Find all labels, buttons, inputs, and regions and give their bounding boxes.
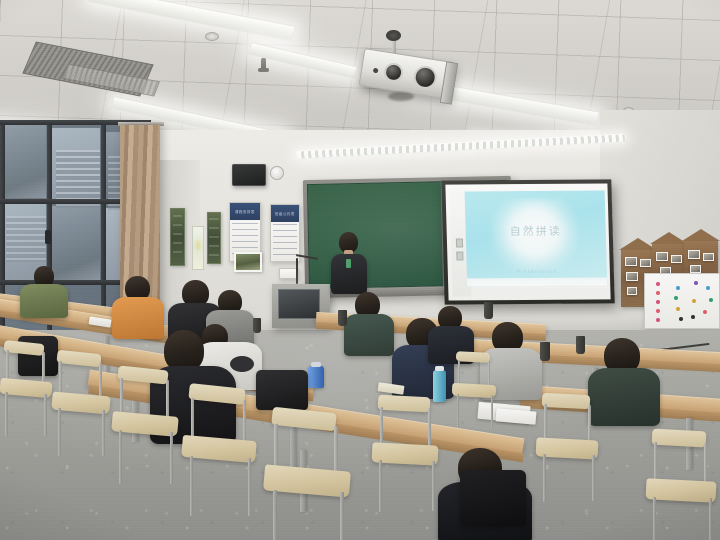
student-torso xyxy=(344,314,394,356)
sticker-dot xyxy=(656,300,660,304)
poster-dark-green-mid xyxy=(207,212,221,264)
chair-leg xyxy=(248,458,251,516)
ceiling-mount-bracket xyxy=(386,30,401,41)
window-handle[interactable] xyxy=(45,230,51,244)
chair-post xyxy=(488,361,490,386)
thermos-dark[interactable] xyxy=(338,310,347,326)
chair-seat xyxy=(645,478,716,503)
sticker-dot xyxy=(676,307,680,311)
adjacent-building xyxy=(6,216,46,262)
chair-leg xyxy=(119,430,122,484)
chair-leg xyxy=(190,456,193,516)
chair-post xyxy=(544,404,547,442)
student-photo xyxy=(625,257,637,266)
chair-leg xyxy=(102,410,105,456)
thermos-dark-2[interactable] xyxy=(576,336,585,354)
screen-panel-button[interactable] xyxy=(456,238,463,247)
presentation-slide: 自然拼读 Presentation xyxy=(465,190,607,286)
window-mullion xyxy=(101,120,106,335)
backpack-black[interactable] xyxy=(256,370,308,410)
slide-footer-bar xyxy=(467,277,607,287)
chair-leg xyxy=(379,460,382,512)
chair-leg xyxy=(592,455,595,501)
student-teal-hood xyxy=(344,292,394,354)
sticker-dot xyxy=(692,299,696,303)
sticker-dot xyxy=(706,286,710,290)
projector-indicator xyxy=(373,68,379,74)
notice-board-header-text: 班级公约表 xyxy=(275,211,295,216)
slide-subtitle: Presentation xyxy=(467,268,607,275)
microphone-arm xyxy=(296,258,298,284)
presenter-at-blackboard xyxy=(330,232,368,294)
presenter-lanyard xyxy=(346,259,351,268)
bottle-cap xyxy=(435,366,444,371)
notice-board-header: 班级公约表 xyxy=(271,205,299,222)
sticker-dot xyxy=(656,282,660,286)
student-torso xyxy=(20,284,68,318)
chair-leg xyxy=(273,490,277,540)
chair-post xyxy=(243,400,246,442)
sticker-dot xyxy=(656,291,660,295)
student-photo xyxy=(656,252,668,261)
chair-post xyxy=(458,360,460,386)
chair-post xyxy=(428,408,431,447)
sprinkler-head xyxy=(261,58,266,70)
poster-pale-yellow xyxy=(192,226,204,270)
window-pane xyxy=(2,124,46,198)
sticker-dot xyxy=(676,286,680,290)
chair-leg xyxy=(58,408,61,456)
sticker-dot xyxy=(703,310,707,314)
screen-panel-button[interactable] xyxy=(456,251,463,260)
projection-screen: 自然拼读 Presentation xyxy=(441,179,614,304)
student-orange xyxy=(112,276,164,338)
slide-title: 自然拼读 xyxy=(466,223,606,240)
sticker-dot xyxy=(691,315,695,319)
thermos-dark-2[interactable] xyxy=(484,302,493,319)
student-photo xyxy=(671,255,682,263)
student-window-green xyxy=(20,266,68,316)
sticker-dot xyxy=(694,281,698,285)
student-dark-green-right xyxy=(588,338,660,424)
screen-surface: 自然拼读 Presentation xyxy=(445,183,610,300)
water-bottle-teal[interactable] xyxy=(433,370,446,402)
chair-leg xyxy=(5,392,8,436)
notice-board-rows xyxy=(273,224,297,258)
chair-post xyxy=(99,363,102,397)
notice-board-header: 课程安排表 xyxy=(230,203,260,220)
chair-backrest xyxy=(456,351,490,363)
display-house-roof xyxy=(682,229,720,241)
backpack-black[interactable] xyxy=(460,470,526,526)
poster-dark-green-left xyxy=(170,208,185,266)
student-torso xyxy=(588,368,660,426)
chair-backrest xyxy=(542,393,591,409)
chair-post xyxy=(704,443,707,484)
notice-board-header-text: 课程安排表 xyxy=(235,209,255,214)
classroom-photo: 自然拼读 Presentation 课程安排表 班级公约表 xyxy=(0,0,720,540)
chair-post xyxy=(588,405,591,442)
chair-leg xyxy=(491,395,493,427)
chair-post xyxy=(380,407,383,447)
sticker-dot-whiteboard xyxy=(644,273,720,329)
chair-post xyxy=(334,426,338,474)
sticker-dot xyxy=(679,317,683,321)
bottle-cap xyxy=(311,362,321,367)
student-photo xyxy=(688,250,700,259)
chair-leg xyxy=(653,497,656,540)
chair-leg xyxy=(457,394,459,428)
chair-leg xyxy=(170,432,173,484)
projector-lens xyxy=(412,64,438,90)
student-photo xyxy=(690,265,701,273)
projector-lens xyxy=(383,62,405,84)
sticker-dot xyxy=(656,309,660,313)
student-photo xyxy=(626,272,638,281)
sticker-dot xyxy=(674,296,678,300)
chair-leg xyxy=(44,394,47,436)
chair-post xyxy=(166,380,169,418)
chair-backrest xyxy=(378,395,431,413)
chair-leg xyxy=(432,461,435,511)
sticker-dot xyxy=(709,298,713,302)
chair-post xyxy=(42,352,45,384)
console-monitor[interactable] xyxy=(278,289,320,319)
chair-leg xyxy=(340,492,344,540)
water-bottle-blue[interactable] xyxy=(308,366,324,388)
thermos-dark-2[interactable] xyxy=(253,318,261,333)
student-photo xyxy=(703,253,714,261)
chair-leg xyxy=(543,454,546,502)
student-photo xyxy=(627,287,637,295)
projector-ceiling-shadow xyxy=(388,92,414,101)
wall-mounted-display xyxy=(232,164,266,186)
sticker-dot xyxy=(656,318,660,322)
smoke-detector xyxy=(205,32,219,41)
thermos-dark-2[interactable] xyxy=(540,342,550,361)
student-photo xyxy=(640,259,651,267)
poster-photo-scenery xyxy=(234,252,262,272)
wall-clock xyxy=(270,166,284,180)
chair-leg xyxy=(709,498,712,540)
chair-backrest xyxy=(652,429,707,448)
